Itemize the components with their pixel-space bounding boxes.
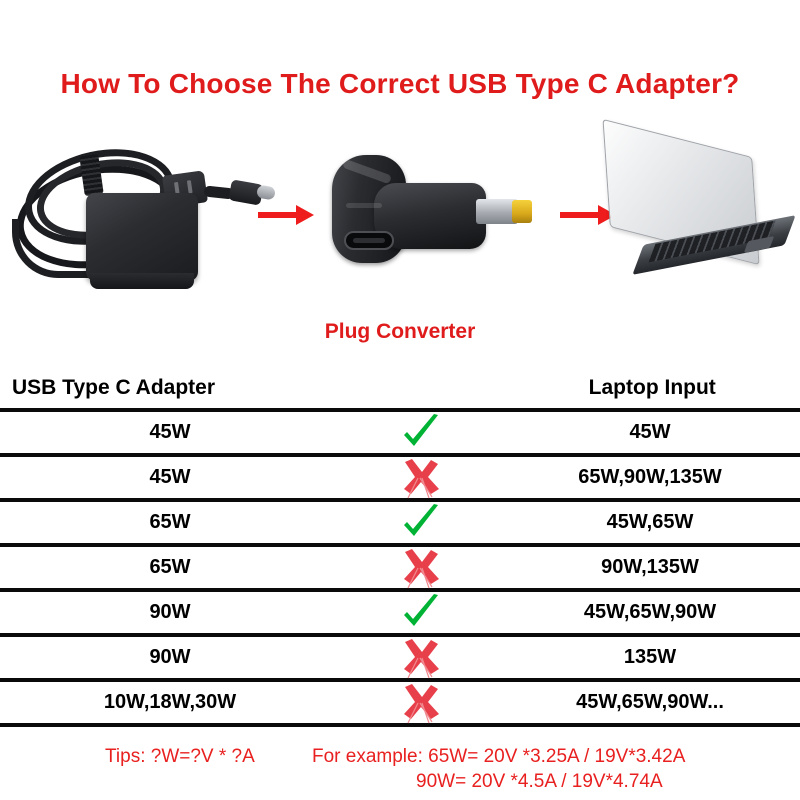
- cell-compatibility-mark: [340, 638, 500, 678]
- cell-laptop-input: 45W,65W,90W...: [500, 691, 800, 714]
- table-row: 45W 65W,90W,135W: [0, 457, 800, 502]
- cross-icon: [398, 458, 442, 498]
- example-line-1: For example: 65W= 20V *3.25A / 19V*3.42A: [312, 746, 685, 767]
- cross-icon: [398, 638, 442, 678]
- cell-laptop-input: 45W,65W,90W: [500, 601, 800, 624]
- cell-adapter-wattage: 90W: [0, 646, 340, 669]
- cell-compatibility-mark: [340, 548, 500, 588]
- cell-compatibility-mark: [340, 413, 500, 453]
- cell-laptop-input: 45W: [500, 421, 800, 444]
- cross-icon: [398, 548, 442, 588]
- cell-adapter-wattage: 65W: [0, 511, 340, 534]
- cell-laptop-input: 65W,90W,135W: [500, 466, 800, 489]
- check-icon: [398, 503, 442, 543]
- check-icon: [398, 413, 442, 453]
- header-laptop-input: Laptop Input: [505, 376, 800, 400]
- illustration-strip: [0, 125, 800, 305]
- adapter-brick: [86, 193, 198, 281]
- converter-highlight-2: [346, 203, 382, 208]
- example-block: For example: 65W= 20V *3.25A / 19V*3.42A…: [312, 744, 685, 794]
- compatibility-table: USB Type C Adapter Laptop Input 45W 45W …: [0, 368, 800, 727]
- tips-formula: Tips: ?W=?V * ?A: [105, 746, 255, 768]
- silver-laptop: [600, 135, 796, 295]
- cell-adapter-wattage: 45W: [0, 466, 340, 489]
- table-row: 45W 45W: [0, 412, 800, 457]
- check-icon: [398, 593, 442, 633]
- cell-adapter-wattage: 45W: [0, 421, 340, 444]
- header-adapter: USB Type C Adapter: [0, 376, 347, 400]
- cell-laptop-input: 90W,135W: [500, 556, 800, 579]
- cell-laptop-input: 45W,65W: [500, 511, 800, 534]
- cell-compatibility-mark: [340, 683, 500, 723]
- l-shaped-plug-converter: [318, 147, 544, 275]
- plug-converter-caption: Plug Converter: [0, 320, 800, 344]
- page-title: How To Choose The Correct USB Type C Ada…: [0, 68, 800, 100]
- cell-compatibility-mark: [340, 593, 500, 633]
- usb-c-power-adapter: [8, 133, 278, 298]
- table-header-row: USB Type C Adapter Laptop Input: [0, 368, 800, 412]
- cross-icon: [398, 683, 442, 723]
- cell-adapter-wattage: 65W: [0, 556, 340, 579]
- table-row: 10W,18W,30W 45W,65W,90W...: [0, 682, 800, 727]
- cell-laptop-input: 135W: [500, 646, 800, 669]
- cell-compatibility-mark: [340, 458, 500, 498]
- cell-adapter-wattage: 10W,18W,30W: [0, 691, 340, 714]
- cell-compatibility-mark: [340, 503, 500, 543]
- table-row: 65W 90W,135W: [0, 547, 800, 592]
- gold-rectangular-tip: [512, 200, 532, 223]
- table-row: 90W 135W: [0, 637, 800, 682]
- table-row: 65W 45W,65W: [0, 502, 800, 547]
- right-arrow-icon: [258, 205, 316, 225]
- table-row: 90W 45W,65W,90W: [0, 592, 800, 637]
- usb-c-female-port-icon: [344, 231, 394, 250]
- usb-c-male-plug: [204, 177, 278, 207]
- example-line-2: 90W= 20V *4.5A / 19V*4.74A: [312, 769, 685, 794]
- cell-adapter-wattage: 90W: [0, 601, 340, 624]
